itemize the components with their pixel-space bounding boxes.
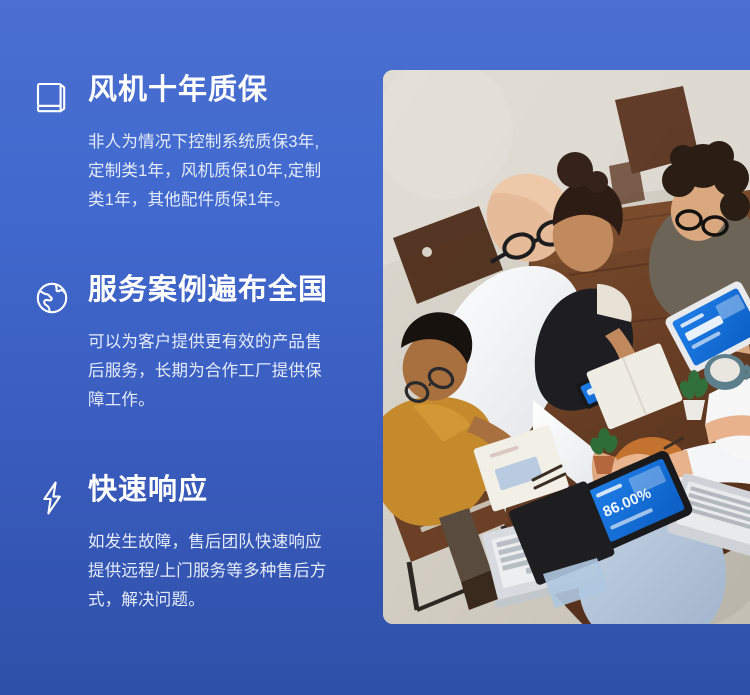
book-icon: [30, 76, 74, 120]
feature-body-line: 非人为情况下控制系统质保3年,: [88, 128, 378, 157]
feature-title: 快速响应: [88, 472, 208, 508]
feature-list: 风机十年质保 非人为情况下控制系统质保3年, 定制类1年，风机质保10年,定制 …: [0, 0, 383, 695]
team-meeting-photo: 86.00%: [383, 70, 750, 624]
globe-icon: [30, 276, 74, 320]
feature-body-line: 后服务，长期为合作工厂提供保: [88, 357, 378, 386]
feature-title: 风机十年质保: [88, 72, 268, 108]
feature-body: 可以为客户提供更有效的产品售 后服务，长期为合作工厂提供保 障工作。: [88, 328, 378, 415]
feature-body: 如发生故障，售后团队快速响应 提供远程/上门服务等多种售后方 式，解决问题。: [88, 528, 378, 615]
feature-body-line: 障工作。: [88, 386, 378, 415]
feature-body: 非人为情况下控制系统质保3年, 定制类1年，风机质保10年,定制 类1年，其他配…: [88, 128, 378, 215]
feature-body-line: 式，解决问题。: [88, 586, 378, 615]
feature-body-line: 提供远程/上门服务等多种售后方: [88, 557, 378, 586]
feature-title: 服务案例遍布全国: [88, 272, 328, 308]
feature-body-line: 定制类1年，风机质保10年,定制: [88, 157, 378, 186]
lightning-icon: [30, 476, 74, 520]
feature-body-line: 类1年，其他配件质保1年。: [88, 186, 378, 215]
feature-body-line: 可以为客户提供更有效的产品售: [88, 328, 378, 357]
photo-illustration: 86.00%: [383, 70, 750, 624]
feature-body-line: 如发生故障，售后团队快速响应: [88, 528, 378, 557]
